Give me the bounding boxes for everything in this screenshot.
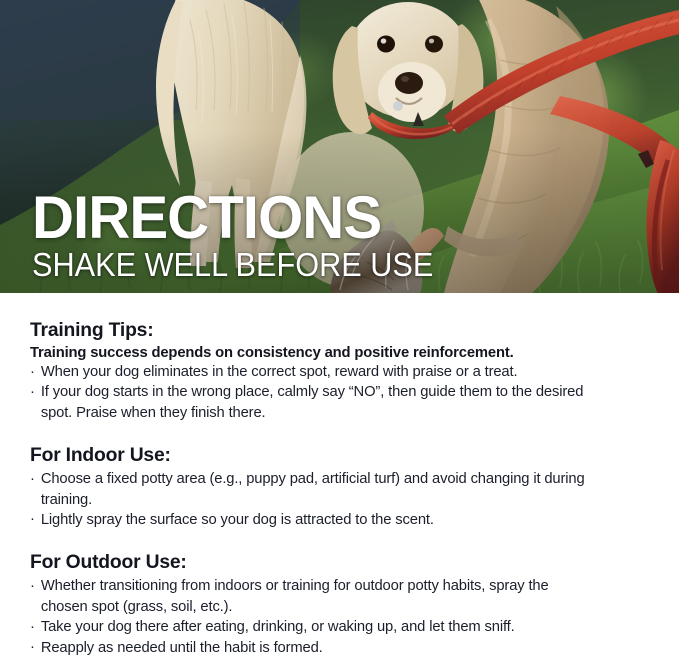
list-item: Lightly spray the surface so your dog is… xyxy=(30,510,585,530)
instructions-body: Training Tips: Training success depends … xyxy=(0,293,679,658)
hero-text-block: DIRECTIONS SHAKE WELL BEFORE USE xyxy=(32,189,464,281)
list-item: Whether transitioning from indoors or tr… xyxy=(30,576,585,617)
list-item: Reapply as needed until the habit is for… xyxy=(30,638,585,658)
hero-photo: DIRECTIONS SHAKE WELL BEFORE USE xyxy=(0,0,679,293)
section-item-list: When your dog eliminates in the correct … xyxy=(30,362,649,423)
section-training-tips: Training Tips: Training success depends … xyxy=(30,319,649,423)
product-label-directions-page: DIRECTIONS SHAKE WELL BEFORE USE Trainin… xyxy=(0,0,679,658)
list-item: When your dog eliminates in the correct … xyxy=(30,362,585,382)
section-item-list: Whether transitioning from indoors or tr… xyxy=(30,576,649,658)
list-item: Take your dog there after eating, drinki… xyxy=(30,617,585,637)
list-item: Choose a fixed potty area (e.g., puppy p… xyxy=(30,469,585,510)
page-title: DIRECTIONS xyxy=(32,189,451,246)
section-outdoor-use: For Outdoor Use: Whether transitioning f… xyxy=(30,551,649,658)
section-lead: Training success depends on consistency … xyxy=(30,344,640,361)
list-item: If your dog starts in the wrong place, c… xyxy=(30,382,585,423)
section-heading: Training Tips: xyxy=(30,319,643,342)
page-subtitle: SHAKE WELL BEFORE USE xyxy=(32,248,433,281)
section-heading: For Outdoor Use: xyxy=(30,551,643,574)
section-indoor-use: For Indoor Use: Choose a fixed potty are… xyxy=(30,444,649,530)
section-heading: For Indoor Use: xyxy=(30,444,643,467)
section-item-list: Choose a fixed potty area (e.g., puppy p… xyxy=(30,469,649,530)
